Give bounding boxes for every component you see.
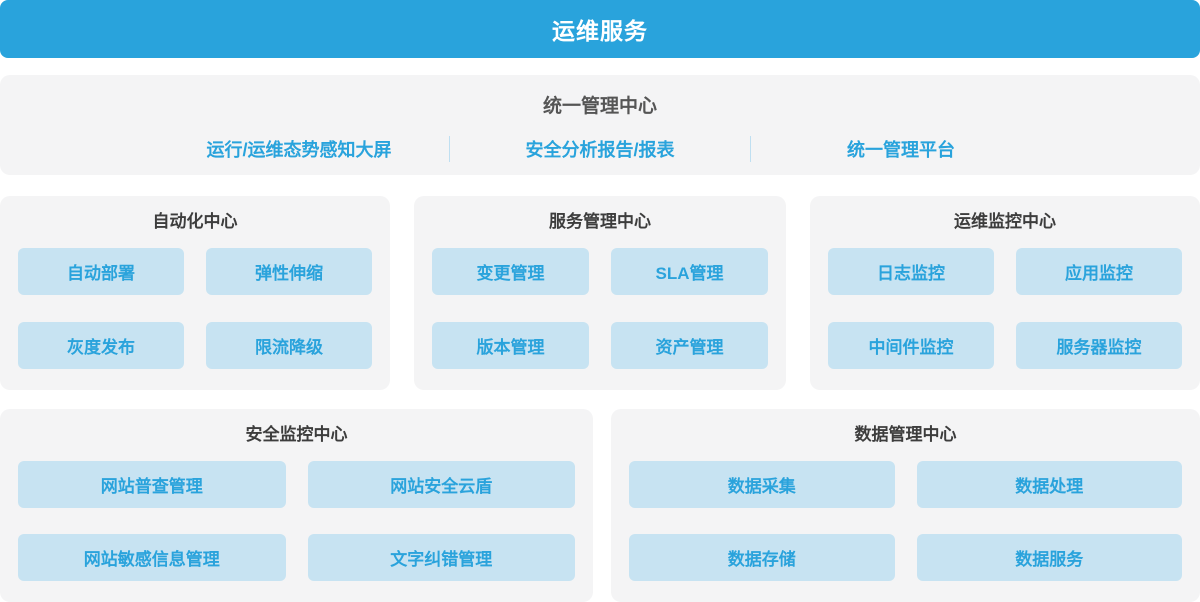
tile-elastic-scaling[interactable]: 弹性伸缩 [206, 248, 372, 295]
center-row-1: 自动化中心 自动部署 弹性伸缩 灰度发布 限流降级 服务管理中心 变更管理 SL… [0, 196, 1200, 390]
tile-website-census-management[interactable]: 网站普查管理 [18, 461, 286, 508]
tile-grid: 自动部署 弹性伸缩 灰度发布 限流降级 [18, 248, 372, 372]
tile-grid: 日志监控 应用监控 中间件监控 服务器监控 [828, 248, 1182, 372]
panel-data-management-center: 数据管理中心 数据采集 数据处理 数据存储 数据服务 [611, 409, 1200, 602]
tile-data-collection[interactable]: 数据采集 [629, 461, 895, 508]
panel-ops-monitoring-center: 运维监控中心 日志监控 应用监控 中间件监控 服务器监控 [810, 196, 1200, 390]
unified-management-center-panel: 统一管理中心 运行/运维态势感知大屏 安全分析报告/报表 统一管理平台 [0, 75, 1200, 175]
tile-data-storage[interactable]: 数据存储 [629, 534, 895, 581]
tile-grid: 变更管理 SLA管理 版本管理 资产管理 [432, 248, 768, 372]
unified-management-center-links: 运行/运维态势感知大屏 安全分析报告/报表 统一管理平台 [0, 136, 1200, 162]
umc-link-situational-awareness[interactable]: 运行/运维态势感知大屏 [149, 136, 449, 162]
center-row-2: 安全监控中心 网站普查管理 网站安全云盾 网站敏感信息管理 文字纠错管理 数据管… [0, 409, 1200, 602]
tile-website-security-cloud-shield[interactable]: 网站安全云盾 [308, 461, 576, 508]
tile-change-management[interactable]: 变更管理 [432, 248, 589, 295]
panel-automation-center: 自动化中心 自动部署 弹性伸缩 灰度发布 限流降级 [0, 196, 390, 390]
ops-service-architecture-diagram: 运维服务 统一管理中心 运行/运维态势感知大屏 安全分析报告/报表 统一管理平台… [0, 0, 1200, 602]
tile-data-service[interactable]: 数据服务 [917, 534, 1183, 581]
umc-link-management-platform[interactable]: 统一管理平台 [751, 136, 1051, 162]
tile-grid: 网站普查管理 网站安全云盾 网站敏感信息管理 文字纠错管理 [18, 461, 575, 584]
page-title: 运维服务 [552, 12, 648, 46]
panel-title: 运维监控中心 [828, 210, 1182, 234]
unified-management-center-title: 统一管理中心 [543, 91, 657, 118]
tile-application-monitoring[interactable]: 应用监控 [1016, 248, 1182, 295]
tile-auto-deploy[interactable]: 自动部署 [18, 248, 184, 295]
tile-log-monitoring[interactable]: 日志监控 [828, 248, 994, 295]
panel-title: 安全监控中心 [18, 423, 575, 447]
tile-grid: 数据采集 数据处理 数据存储 数据服务 [629, 461, 1182, 584]
umc-link-security-report[interactable]: 安全分析报告/报表 [450, 136, 750, 162]
tile-text-correction-management[interactable]: 文字纠错管理 [308, 534, 576, 581]
panel-title: 自动化中心 [18, 210, 372, 234]
tile-website-sensitive-info-management[interactable]: 网站敏感信息管理 [18, 534, 286, 581]
tile-rate-limit-degrade[interactable]: 限流降级 [206, 322, 372, 369]
header-bar: 运维服务 [0, 0, 1200, 58]
tile-gray-release[interactable]: 灰度发布 [18, 322, 184, 369]
tile-data-processing[interactable]: 数据处理 [917, 461, 1183, 508]
panel-security-monitoring-center: 安全监控中心 网站普查管理 网站安全云盾 网站敏感信息管理 文字纠错管理 [0, 409, 593, 602]
tile-sla-management[interactable]: SLA管理 [611, 248, 768, 295]
panel-title: 数据管理中心 [629, 423, 1182, 447]
tile-version-management[interactable]: 版本管理 [432, 322, 589, 369]
tile-middleware-monitoring[interactable]: 中间件监控 [828, 322, 994, 369]
panel-service-management-center: 服务管理中心 变更管理 SLA管理 版本管理 资产管理 [414, 196, 786, 390]
tile-server-monitoring[interactable]: 服务器监控 [1016, 322, 1182, 369]
tile-asset-management[interactable]: 资产管理 [611, 322, 768, 369]
panel-title: 服务管理中心 [432, 210, 768, 234]
